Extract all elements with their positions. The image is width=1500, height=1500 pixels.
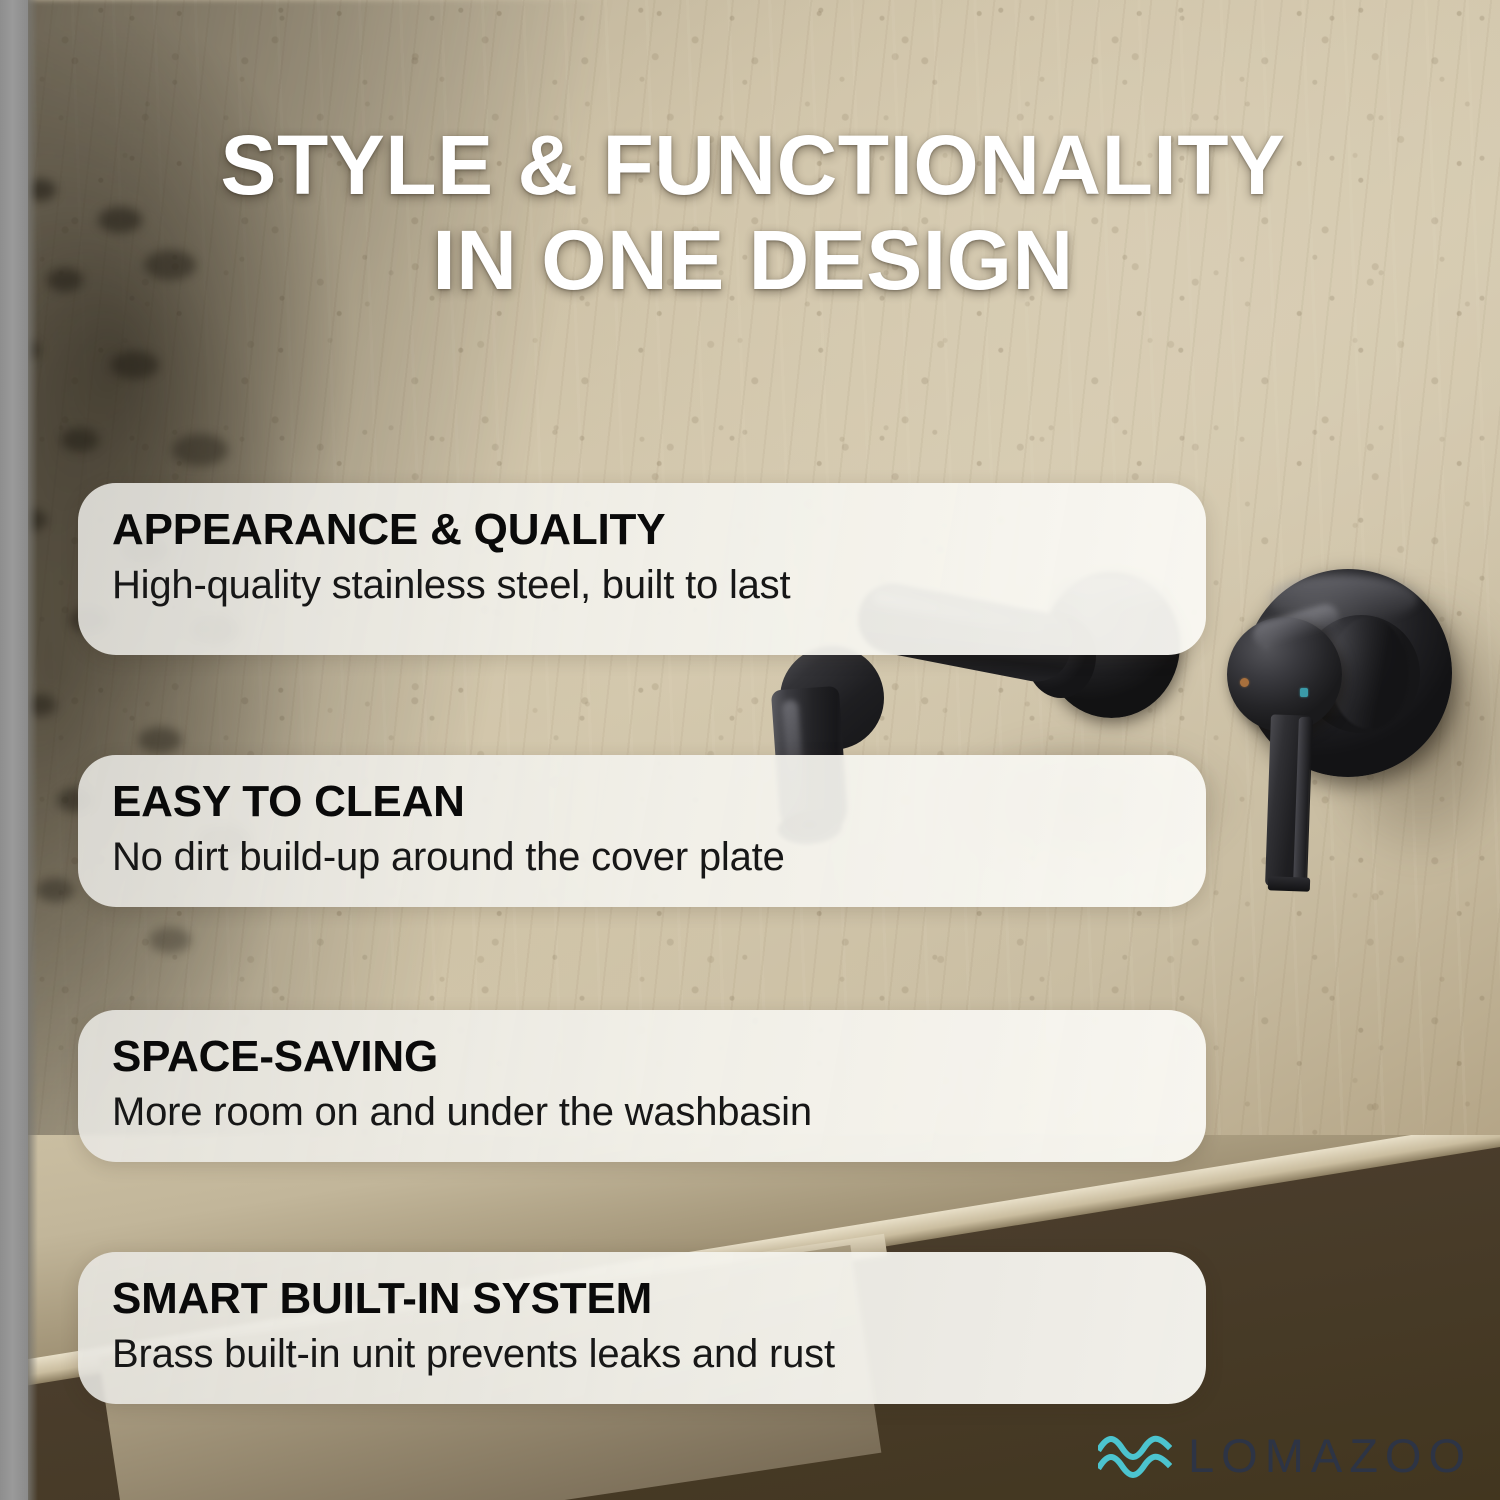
- feature-card: APPEARANCE & QUALITY High-quality stainl…: [78, 483, 1206, 655]
- feature-card-subtitle: More room on and under the washbasin: [112, 1090, 1172, 1135]
- headline-line-2: IN ONE DESIGN: [38, 213, 1468, 308]
- infographic-canvas: STYLE & FUNCTIONALITY IN ONE DESIGN APPE…: [0, 0, 1500, 1500]
- feature-card: EASY TO CLEAN No dirt build-up around th…: [78, 755, 1206, 907]
- feature-card-title: APPEARANCE & QUALITY: [112, 507, 1172, 553]
- wave-lines-icon: [1098, 1432, 1172, 1478]
- feature-card-subtitle: Brass built-in unit prevents leaks and r…: [112, 1332, 1172, 1377]
- left-edge-bar-shadow: [28, 0, 38, 1500]
- feature-card-title: EASY TO CLEAN: [112, 779, 1172, 825]
- feature-card-title: SMART BUILT-IN SYSTEM: [112, 1276, 1172, 1322]
- feature-card: SMART BUILT-IN SYSTEM Brass built-in uni…: [78, 1252, 1206, 1404]
- left-edge-bar: [0, 0, 28, 1500]
- feature-card-subtitle: High-quality stainless steel, built to l…: [112, 563, 1172, 608]
- mixer-lever-tip: [1268, 876, 1310, 891]
- headline-line-1: STYLE & FUNCTIONALITY: [220, 118, 1285, 212]
- feature-card: SPACE-SAVING More room on and under the …: [78, 1010, 1206, 1162]
- brand-logo: LOMAZOO: [1098, 1424, 1470, 1486]
- feature-card-subtitle: No dirt build-up around the cover plate: [112, 835, 1172, 880]
- hot-water-indicator-icon: [1240, 678, 1249, 687]
- feature-card-title: SPACE-SAVING: [112, 1034, 1172, 1080]
- page-title: STYLE & FUNCTIONALITY IN ONE DESIGN: [38, 118, 1468, 308]
- faucet-mixer-handle-icon: [1210, 555, 1490, 900]
- brand-name: LOMAZOO: [1188, 1432, 1472, 1479]
- cold-water-indicator-icon: [1300, 688, 1308, 697]
